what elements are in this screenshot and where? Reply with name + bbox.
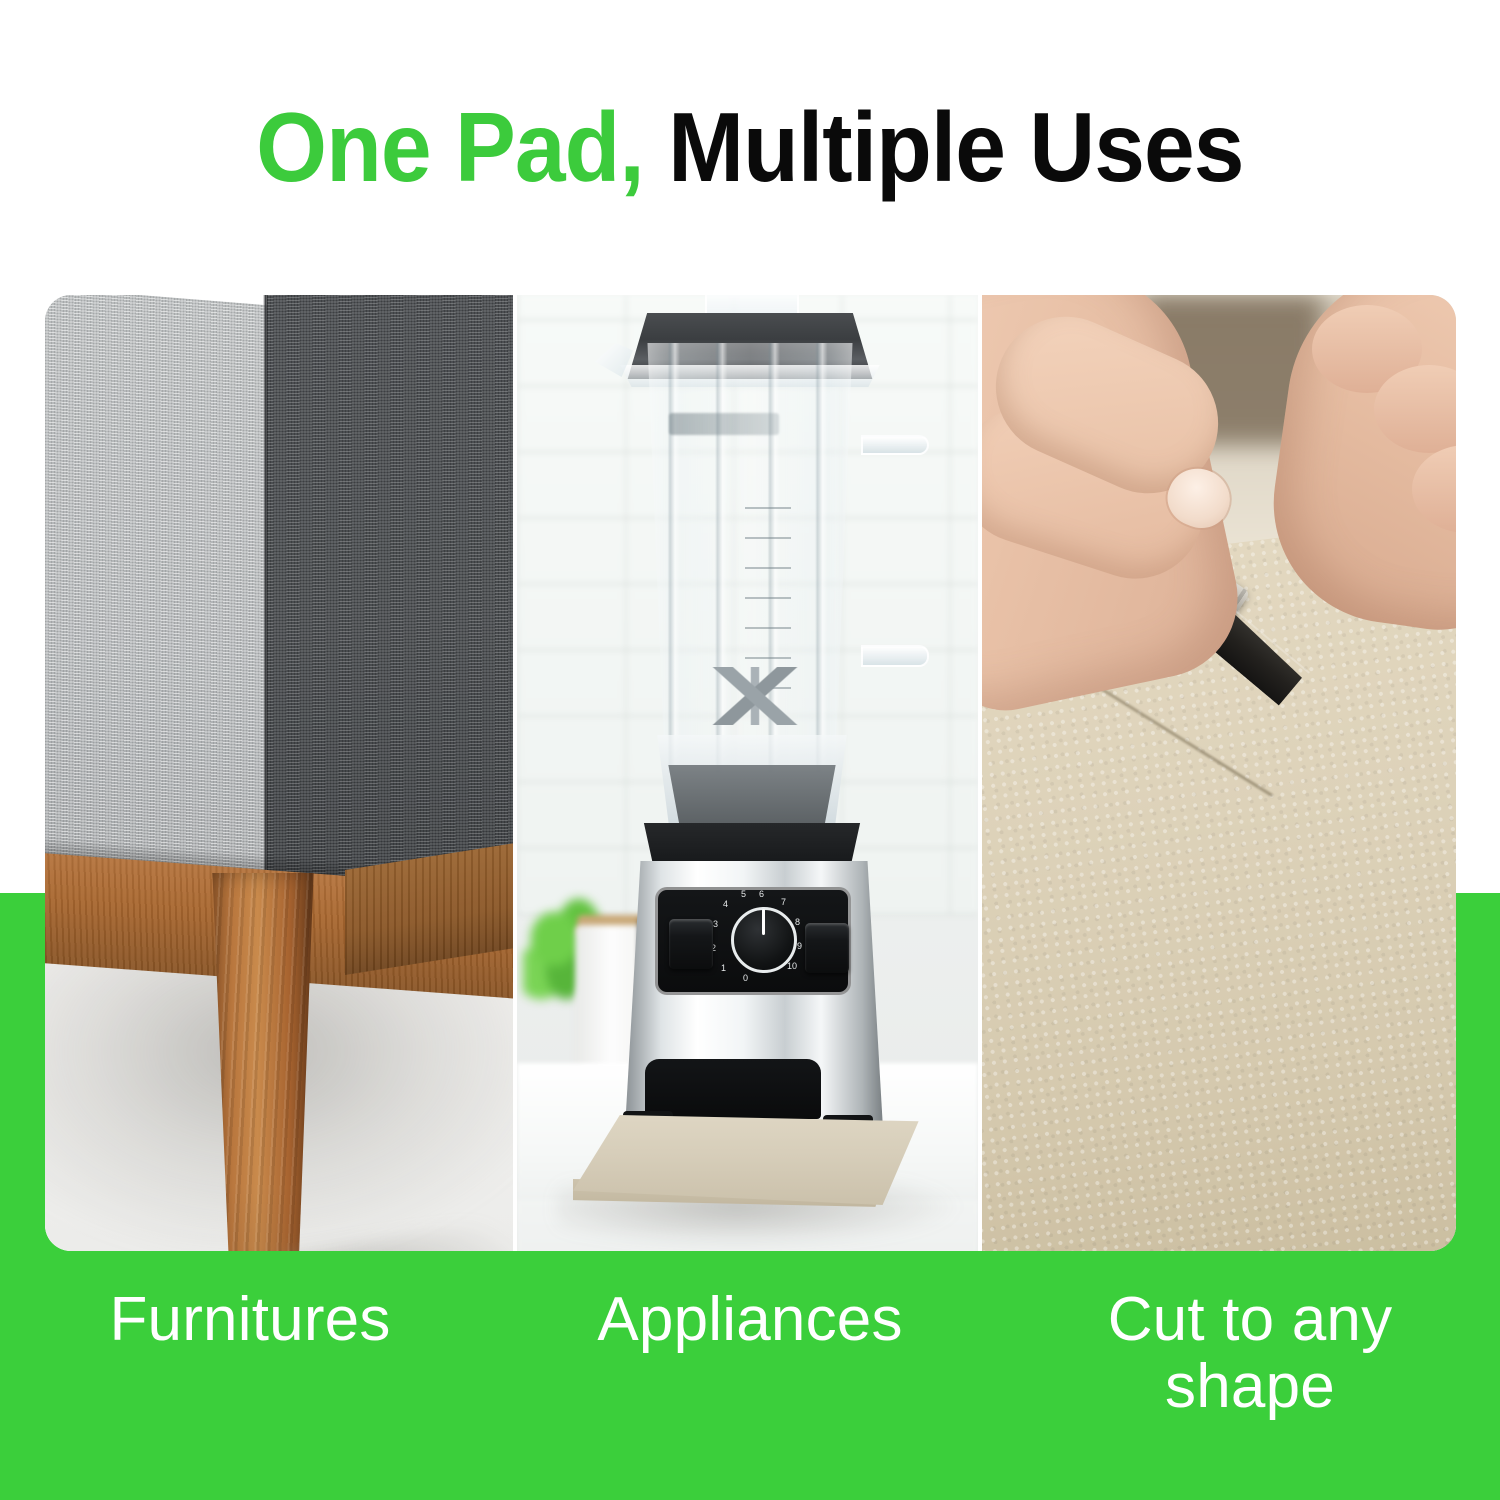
feature-image-strip: 6 7 8 9 10 5 4 3 2 1 0 xyxy=(45,295,1456,1251)
blender-base-arch xyxy=(645,1059,821,1119)
caption-appliances: Appliances xyxy=(500,1255,1000,1500)
dial-pointer xyxy=(762,909,765,935)
sofa-front-fabric xyxy=(45,295,271,906)
blender-toggle-switch-right[interactable] xyxy=(805,923,849,973)
square-appliance-pad xyxy=(573,1115,933,1205)
blender-handle-bottom xyxy=(861,645,929,667)
blender-handle-top xyxy=(861,435,929,455)
blender-brand-logo xyxy=(669,413,779,435)
caption-appliances-text: Appliances xyxy=(597,1287,902,1354)
blender-toggle-switch-left[interactable] xyxy=(669,919,713,969)
caption-cut-to-shape: Cut to anyshape xyxy=(1000,1255,1500,1500)
panel-furnitures xyxy=(45,295,513,1251)
sofa-corner-seam xyxy=(263,295,268,885)
caption-furnitures: Furnitures xyxy=(0,1255,500,1500)
panel-cut-to-shape xyxy=(982,295,1456,1251)
page-title-black-part: Multiple Uses xyxy=(644,92,1244,202)
caption-cut-to-shape-text: Cut to anyshape xyxy=(1108,1287,1393,1421)
caption-row: Furnitures Appliances Cut to anyshape xyxy=(0,1255,1500,1500)
page-title: One Pad, Multiple Uses xyxy=(256,98,1243,196)
blender-motor-collar xyxy=(637,823,867,865)
page-title-green-part: One Pad, xyxy=(256,92,644,202)
blender-pitcher-collar xyxy=(663,765,841,823)
caption-cut-line-2: shape xyxy=(1108,1354,1393,1421)
caption-furnitures-text: Furnitures xyxy=(109,1287,390,1354)
panel-appliances: 6 7 8 9 10 5 4 3 2 1 0 xyxy=(517,295,978,1251)
blender-blades xyxy=(695,667,815,725)
headline-bar: One Pad, Multiple Uses xyxy=(0,0,1500,293)
sofa-side-fabric xyxy=(267,295,513,905)
caption-cut-line-1: Cut to any xyxy=(1108,1287,1393,1354)
